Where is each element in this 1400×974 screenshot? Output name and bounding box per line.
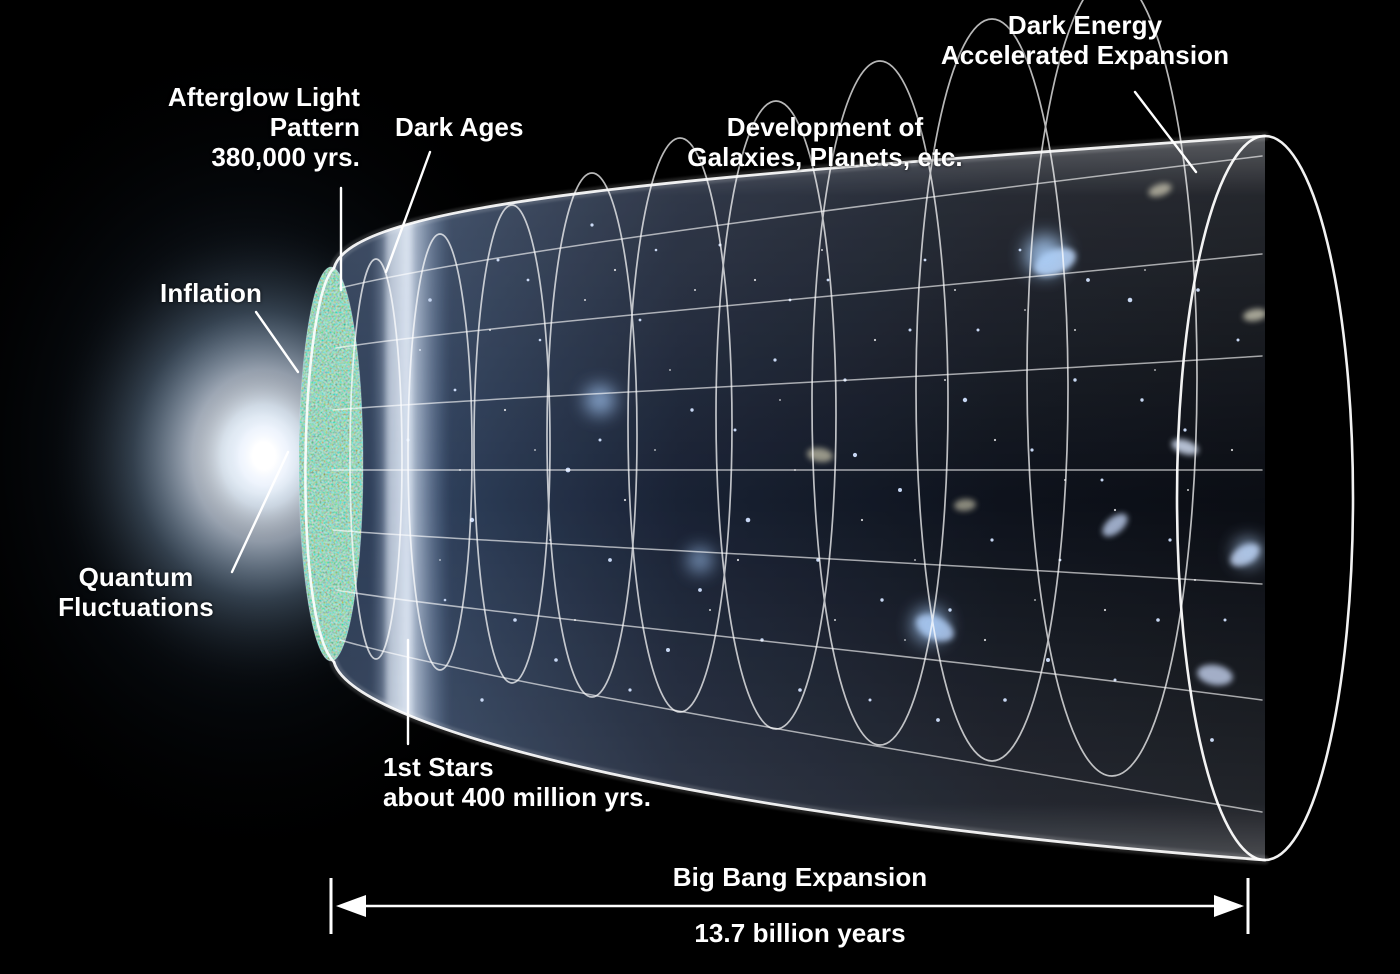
- label-inflation: Inflation: [0, 278, 262, 308]
- arrowhead-right: [1214, 895, 1244, 917]
- label-quantum-fluctuations: Quantum Fluctuations: [0, 562, 272, 622]
- label-dark-ages: Dark Ages: [395, 112, 625, 142]
- label-universe-age: 13.7 billion years: [470, 918, 1130, 948]
- label-big-bang-expansion: Big Bang Expansion: [470, 862, 1130, 892]
- label-first-stars: 1st Stars about 400 million yrs.: [383, 752, 853, 812]
- label-development-of-galaxies: Development of Galaxies, Planets, etc.: [645, 112, 1005, 172]
- universe-timeline-diagram: Afterglow Light Pattern 380,000 yrs. Dar…: [0, 0, 1400, 974]
- arrowhead-left: [336, 895, 366, 917]
- label-afterglow-light-pattern: Afterglow Light Pattern 380,000 yrs.: [0, 82, 360, 172]
- label-dark-energy: Dark Energy Accelerated Expansion: [880, 10, 1290, 70]
